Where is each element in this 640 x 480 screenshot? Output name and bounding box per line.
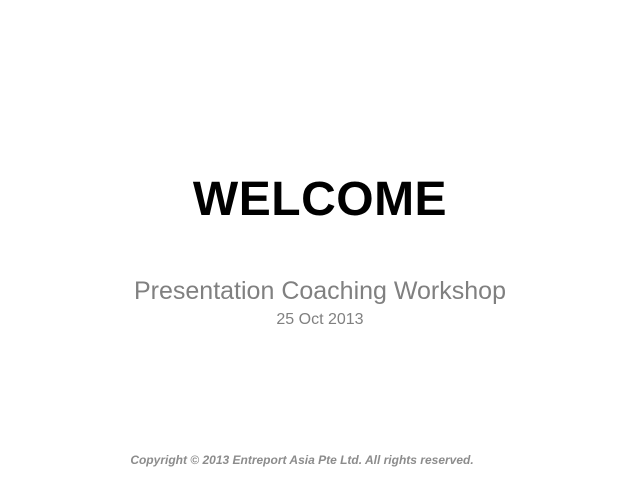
subtitle-heading: Presentation Coaching Workshop <box>0 276 640 306</box>
subtitle-block: Presentation Coaching Workshop 25 Oct 20… <box>0 276 640 330</box>
page-title: WELCOME <box>0 172 640 228</box>
footer-block: Copyright © 2013 Entreport Asia Pte Ltd.… <box>0 452 640 468</box>
subtitle-date: 25 Oct 2013 <box>0 310 640 330</box>
presentation-slide: WELCOME Presentation Coaching Workshop 2… <box>0 0 640 480</box>
title-block: WELCOME <box>0 172 640 228</box>
copyright-notice: Copyright © 2013 Entreport Asia Pte Ltd.… <box>0 452 604 468</box>
